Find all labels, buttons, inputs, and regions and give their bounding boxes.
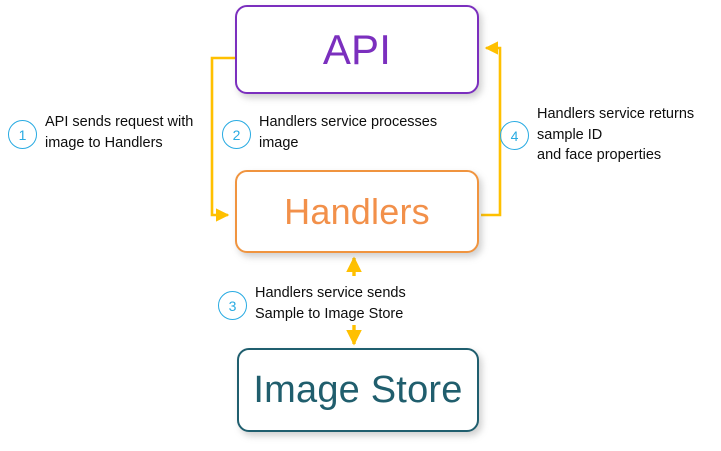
connector-handlers-to-api xyxy=(481,48,500,215)
step-text-1: API sends request with image to Handlers xyxy=(45,112,193,153)
step-annotation-2: 2 Handlers service processes image xyxy=(222,112,467,153)
step-text-2: Handlers service processes image xyxy=(259,112,437,153)
node-image-store-label: Image Store xyxy=(253,369,462,412)
node-api-label: API xyxy=(323,26,391,74)
node-api[interactable]: API xyxy=(235,5,479,94)
step-badge-1: 1 xyxy=(8,120,37,149)
step-badge-4: 4 xyxy=(500,121,529,150)
step-annotation-3: 3 Handlers service sends Sample to Image… xyxy=(218,283,463,324)
node-handlers[interactable]: Handlers xyxy=(235,170,479,253)
step-annotation-1: 1 API sends request with image to Handle… xyxy=(8,112,218,153)
node-image-store[interactable]: Image Store xyxy=(237,348,479,432)
step-badge-2: 2 xyxy=(222,120,251,149)
step-text-4: Handlers service returns sample ID and f… xyxy=(537,104,694,166)
diagram-canvas: API Handlers Image Store 1 API sends req… xyxy=(0,0,721,451)
node-handlers-label: Handlers xyxy=(284,191,430,233)
step-text-3: Handlers service sends Sample to Image S… xyxy=(255,283,406,324)
step-annotation-4: 4 Handlers service returns sample ID and… xyxy=(500,104,715,166)
step-badge-3: 3 xyxy=(218,291,247,320)
